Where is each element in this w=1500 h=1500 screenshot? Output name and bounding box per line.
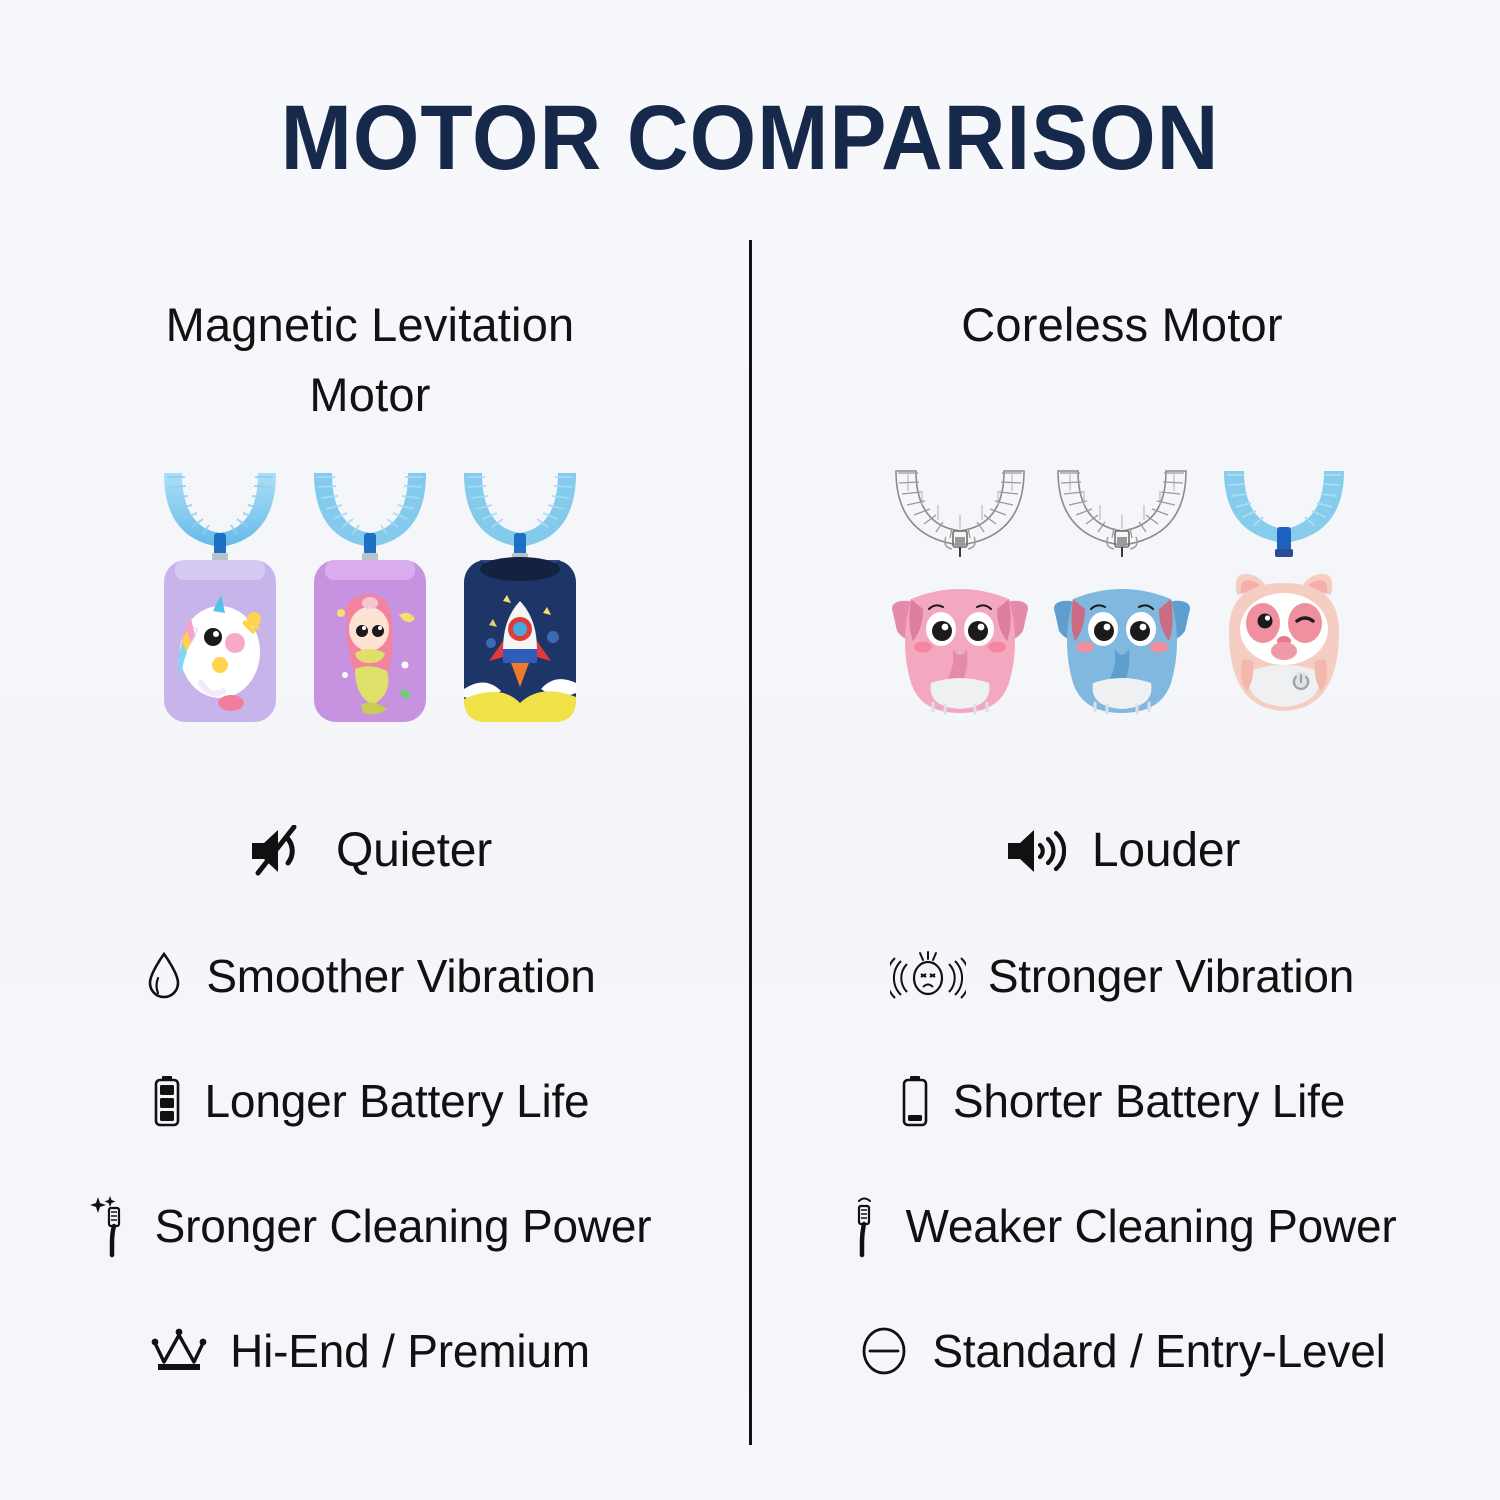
speaker-loud-icon — [1004, 825, 1066, 877]
panda-body — [1213, 555, 1355, 717]
feature-label: Smoother Vibration — [206, 953, 595, 999]
motor-comparison-infographic: MOTOR COMPARISON Magnetic Levitation Mot… — [0, 0, 1500, 1500]
toothbrush-sparkle-icon — [89, 1193, 133, 1259]
battery-full-icon — [151, 1074, 183, 1128]
mermaid-body — [311, 557, 429, 725]
rocket-toothbrush — [454, 465, 586, 725]
feature-label: Hi-End / Premium — [230, 1328, 590, 1374]
feature-row: Longer Battery Life — [0, 1038, 740, 1163]
column-heading-right: Coreless Motor — [752, 290, 1492, 360]
minus-circle-icon — [858, 1325, 910, 1377]
column-heading-left: Magnetic Levitation Motor — [0, 290, 740, 429]
feature-list-right: Louder — [752, 788, 1492, 1413]
feature-row: Stronger Vibration — [752, 913, 1492, 1038]
u-brush-head-outline-icon — [886, 465, 1034, 561]
feature-label: Standard / Entry-Level — [932, 1328, 1385, 1374]
u-brush-head-icon — [454, 465, 586, 563]
u-brush-head-icon — [1210, 465, 1358, 561]
rocket-body — [461, 557, 579, 725]
column-heading-left-line1: Magnetic Levitation — [60, 290, 680, 360]
mermaid-toothbrush — [304, 465, 436, 725]
shaking-face-icon — [890, 950, 966, 1002]
feature-row: Smoother Vibration — [0, 913, 740, 1038]
feature-row: Sronger Cleaning Power — [0, 1163, 740, 1288]
product-row-right — [752, 465, 1492, 717]
feature-row: Weaker Cleaning Power — [752, 1163, 1492, 1288]
elephant-body — [889, 555, 1031, 717]
feature-label: Louder — [1092, 827, 1240, 875]
feature-label: Weaker Cleaning Power — [906, 1203, 1397, 1249]
battery-low-icon — [899, 1074, 931, 1128]
u-brush-head-icon — [154, 465, 286, 563]
feature-row: Hi-End / Premium — [0, 1288, 740, 1413]
column-magnetic-levitation: Magnetic Levitation Motor — [0, 290, 740, 1450]
feature-label: Shorter Battery Life — [953, 1078, 1345, 1124]
column-coreless: Coreless Motor — [752, 290, 1492, 1450]
feature-label: Quieter — [336, 827, 492, 875]
pink-panda-toothbrush — [1210, 465, 1358, 717]
water-droplet-icon — [144, 950, 184, 1002]
feature-label: Stronger Vibration — [988, 953, 1354, 999]
crown-icon — [150, 1326, 208, 1376]
feature-label: Sronger Cleaning Power — [155, 1203, 652, 1249]
product-row-left — [0, 465, 740, 725]
feature-row: Standard / Entry-Level — [752, 1288, 1492, 1413]
speaker-muted-icon — [248, 825, 310, 877]
column-heading-left-line2: Motor — [60, 360, 680, 430]
unicorn-body — [161, 557, 279, 725]
feature-row: Louder — [752, 788, 1492, 913]
page-title: MOTOR COMPARISON — [53, 92, 1448, 184]
u-brush-head-icon — [304, 465, 436, 563]
elephant-body — [1051, 555, 1193, 717]
feature-row: Quieter — [0, 788, 740, 913]
pink-elephant-toothbrush — [886, 465, 1034, 717]
feature-list-left: Quieter Smoother Vibration — [0, 788, 740, 1413]
unicorn-toothbrush — [154, 465, 286, 725]
toothbrush-icon — [848, 1193, 884, 1259]
column-heading-right-line1: Coreless Motor — [812, 290, 1432, 360]
blue-elephant-toothbrush — [1048, 465, 1196, 717]
feature-row: Shorter Battery Life — [752, 1038, 1492, 1163]
u-brush-head-outline-icon — [1048, 465, 1196, 561]
feature-label: Longer Battery Life — [205, 1078, 590, 1124]
